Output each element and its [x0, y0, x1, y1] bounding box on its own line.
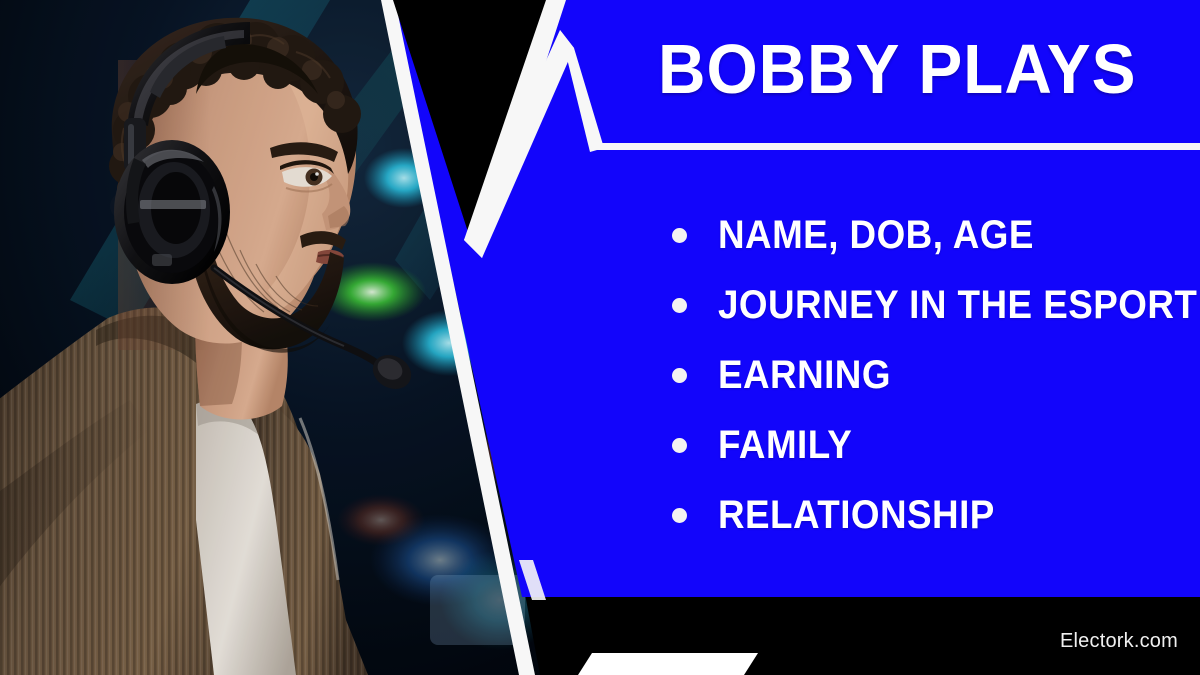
thumbnail-canvas: BOBBY PLAYS NAME, DOB, AGE JOURNEY IN TH…: [0, 0, 1200, 675]
feature-bullet-list: NAME, DOB, AGE JOURNEY IN THE ESPORT EAR…: [672, 200, 1192, 550]
bullet-label: NAME, DOB, AGE: [718, 214, 1034, 256]
bullet-dot-icon: [672, 508, 687, 523]
bottom-accent-slab: [578, 653, 758, 675]
list-item: RELATIONSHIP: [672, 480, 1192, 550]
bullet-label: RELATIONSHIP: [718, 494, 995, 536]
bullet-label: EARNING: [718, 354, 891, 396]
bullet-dot-icon: [672, 298, 687, 313]
bullet-dot-icon: [672, 368, 687, 383]
bullet-label: JOURNEY IN THE ESPORT: [718, 284, 1197, 326]
site-watermark: Electork.com: [1060, 630, 1178, 653]
page-title: BOBBY PLAYS: [658, 33, 1147, 105]
list-item: EARNING: [672, 340, 1192, 410]
bullet-dot-icon: [672, 228, 687, 243]
list-item: NAME, DOB, AGE: [672, 200, 1192, 270]
bullet-label: FAMILY: [718, 424, 852, 466]
list-item: JOURNEY IN THE ESPORT: [672, 270, 1192, 340]
bullet-dot-icon: [672, 438, 687, 453]
list-item: FAMILY: [672, 410, 1192, 480]
